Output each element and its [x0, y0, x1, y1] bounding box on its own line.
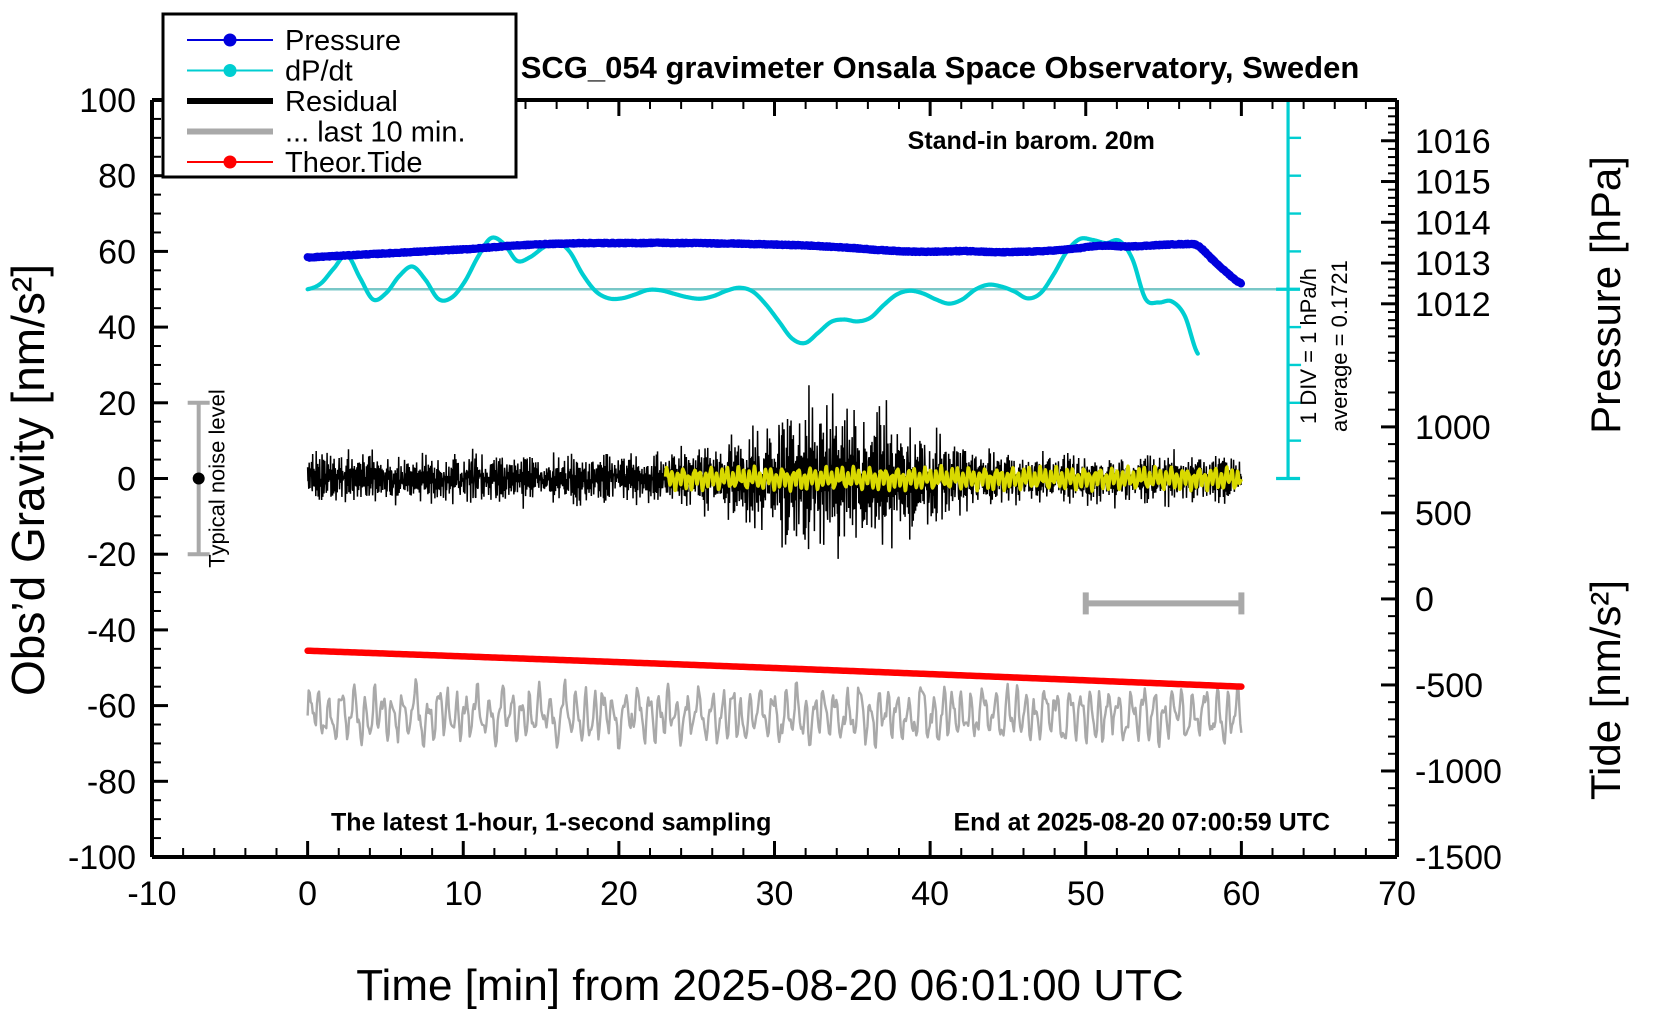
y-tick-label-pressure: 1012 [1415, 286, 1491, 324]
x-tick-label: 60 [1222, 875, 1260, 913]
annotation-standin-barom: Stand-in barom. 20m [908, 127, 1155, 155]
x-tick-label: 10 [444, 875, 482, 913]
legend-swatch-dot [224, 34, 237, 47]
y-tick-label-pressure: 1014 [1415, 204, 1491, 242]
legend-entry-label: dP/dt [285, 56, 353, 88]
annotation-average-note: average = 0.1721 [1327, 260, 1352, 432]
y-tick-label-left: -80 [87, 763, 136, 801]
x-axis-title: Time [min] from 2025-08-20 06:01:00 UTC [356, 961, 1183, 1010]
y-tick-label-left: 20 [98, 385, 136, 423]
chart-title: SCG_054 gravimeter Onsala Space Observat… [521, 50, 1360, 85]
y-tick-label-left: -40 [87, 612, 136, 650]
y-tick-label-tide: -500 [1415, 667, 1483, 705]
y-tick-label-tide: 500 [1415, 495, 1472, 533]
y-tick-label-left: -100 [68, 839, 136, 877]
x-tick-label: 40 [911, 875, 949, 913]
x-tick-label: 30 [756, 875, 794, 913]
y-tick-label-tide: 1000 [1415, 409, 1491, 447]
annotation-footer-left: The latest 1-hour, 1-second sampling [331, 809, 771, 837]
chart-canvas: -10010203040506070-100-80-60-40-20020406… [0, 0, 1660, 1020]
gravimeter-monitor-plot: -10010203040506070-100-80-60-40-20020406… [0, 0, 1660, 1020]
x-tick-label: 0 [298, 875, 317, 913]
y-axis-title-right-tide: Tide [nm/s²] [1582, 580, 1629, 800]
legend-group[interactable]: PressuredP/dtResidual... last 10 min.The… [163, 14, 516, 179]
y-tick-label-left: 100 [79, 82, 136, 120]
y-tick-label-left: 0 [117, 461, 136, 499]
y-tick-label-tide: 0 [1415, 581, 1434, 619]
y-tick-label-pressure: 1013 [1415, 245, 1491, 283]
y-tick-label-tide: -1000 [1415, 753, 1502, 791]
y-tick-label-pressure: 1015 [1415, 164, 1491, 202]
y-tick-label-left: 40 [98, 309, 136, 347]
legend-swatch-dot [224, 156, 237, 169]
annotation-footer-right: End at 2025-08-20 07:00:59 UTC [953, 809, 1330, 837]
y-tick-label-left: 80 [98, 158, 136, 196]
legend-entry-label: Pressure [285, 25, 401, 57]
noise-level-label: Typical noise level [205, 389, 230, 568]
y-tick-label-tide: -1500 [1415, 839, 1502, 877]
x-tick-label: 70 [1378, 875, 1416, 913]
y-tick-label-left: 60 [98, 233, 136, 271]
y-tick-label-left: -20 [87, 536, 136, 574]
annotation-div-note: 1 DIV = 1 hPa/h [1296, 268, 1321, 424]
legend-swatch-dot [224, 64, 237, 77]
y-axis-title-left: Obs’d Gravity [nm/s²] [2, 264, 54, 696]
y-tick-label-pressure: 1016 [1415, 123, 1491, 161]
legend-entry-label: Residual [285, 86, 398, 118]
y-axis-title-right-pressure: Pressure [hPa] [1582, 156, 1629, 434]
legend-entry-label: Theor.Tide [285, 147, 423, 179]
x-tick-label: 20 [600, 875, 638, 913]
y-tick-label-left: -60 [87, 688, 136, 726]
legend-entry-label: ... last 10 min. [285, 117, 466, 149]
x-tick-label: 50 [1067, 875, 1105, 913]
noise-level-dot [193, 473, 205, 485]
x-tick-label: -10 [127, 875, 176, 913]
